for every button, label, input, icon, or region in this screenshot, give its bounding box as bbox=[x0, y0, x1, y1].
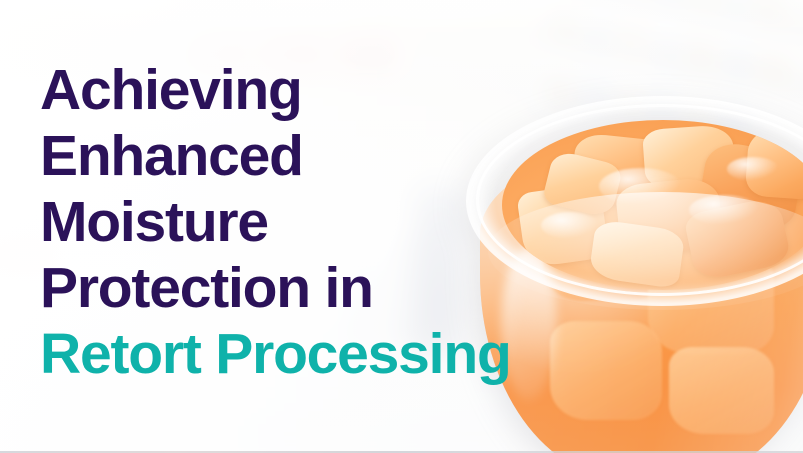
submerged-fruit-chunk bbox=[550, 321, 662, 421]
headline-line-5-accent: Retort Processing bbox=[40, 321, 560, 387]
headline-line-2: Enhanced bbox=[40, 123, 560, 189]
banner-headline: Achieving Enhanced Moisture Protection i… bbox=[40, 57, 560, 387]
headline-line-1: Achieving bbox=[40, 57, 560, 123]
headline-line-4: Protection in bbox=[40, 255, 560, 321]
headline-line-3: Moisture bbox=[40, 189, 560, 255]
promo-banner: Achieving Enhanced Moisture Protection i… bbox=[0, 0, 803, 453]
submerged-fruit-chunk bbox=[669, 347, 774, 433]
